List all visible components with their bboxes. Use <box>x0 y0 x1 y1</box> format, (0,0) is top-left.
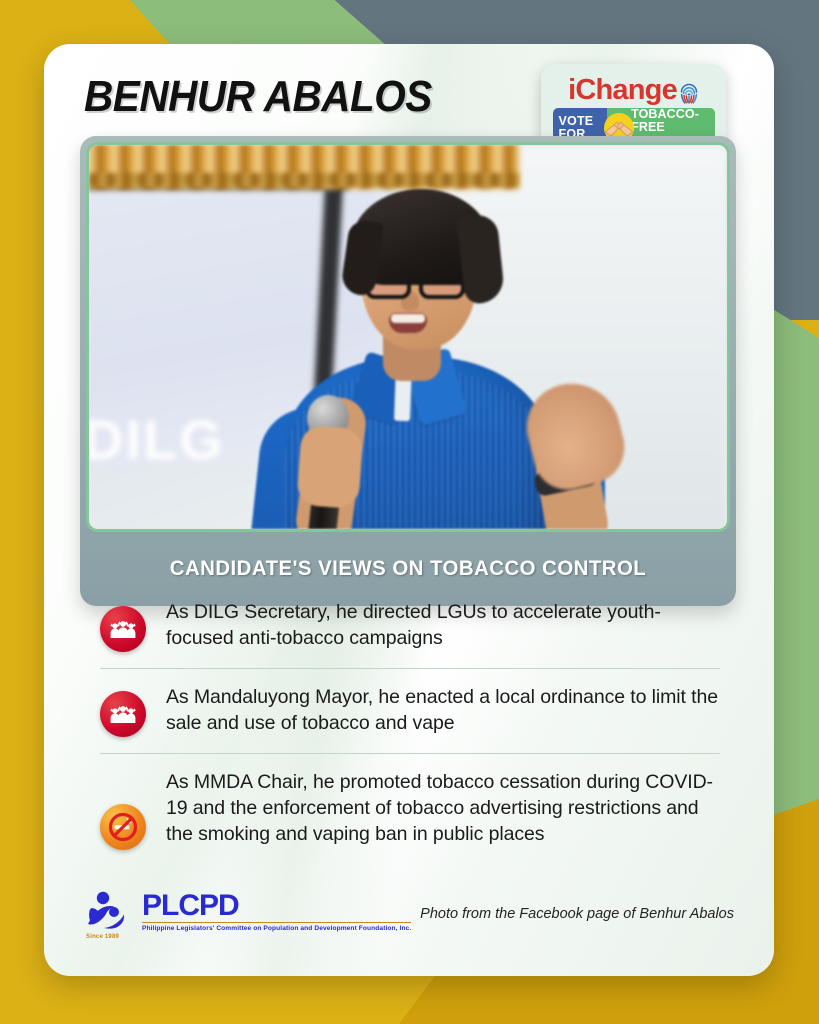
bullet-icon-slot <box>100 691 146 737</box>
list-item-text: As DILG Secretary, he directed LGUs to a… <box>166 600 720 652</box>
list-item: As DILG Secretary, he directed LGUs to a… <box>100 584 720 668</box>
list-item: As Mandaluyong Mayor, he enacted a local… <box>100 668 720 753</box>
list-item-text: As MMDA Chair, he promoted tobacco cessa… <box>166 770 720 848</box>
ichange-wordmark: iChange <box>568 76 677 105</box>
candidate-photo: DILG <box>86 142 730 532</box>
photo-mouth <box>389 313 427 333</box>
photo-panel: DILG <box>80 136 736 606</box>
list-item: As MMDA Chair, he promoted tobacco cessa… <box>100 753 720 866</box>
badge-tobacco-free-label: TOBACCO-FREE <box>631 108 714 135</box>
people-community-icon <box>100 691 146 737</box>
plcpd-logo: Since 1989 PLCPD Philippine Legislators'… <box>84 890 411 938</box>
views-list: As DILG Secretary, he directed LGUs to a… <box>100 584 720 866</box>
plcpd-full-name: Philippine Legislators' Committee on Pop… <box>142 925 411 934</box>
ichange-wordmark-row: iChange <box>568 76 699 105</box>
photo-credit: Photo from the Facebook page of Benhur A… <box>420 906 734 922</box>
card-footer: Since 1989 PLCPD Philippine Legislators'… <box>44 884 774 954</box>
photo-content: DILG <box>89 145 727 529</box>
photo-backdrop-text: DILG <box>89 407 225 472</box>
bullet-icon-slot <box>100 804 146 850</box>
page-title: BENHUR ABALOS <box>84 72 432 122</box>
photo-teeth <box>391 314 425 323</box>
plcpd-since-label: Since 1989 <box>86 934 119 940</box>
photo-bamboo-decor-2 <box>89 173 519 187</box>
plcpd-wordmark: PLCPD Philippine Legislators' Committee … <box>142 890 411 934</box>
bullet-icon-slot <box>100 606 146 652</box>
list-item-text: As Mandaluyong Mayor, he enacted a local… <box>166 685 720 737</box>
no-smoking-glyph <box>107 811 139 843</box>
content-card: BENHUR ABALOS iChange <box>44 44 774 976</box>
fingerprint-icon <box>679 79 699 105</box>
poster-canvas: BENHUR ABALOS iChange <box>0 0 819 1024</box>
photo-hand-holding-mic <box>296 425 363 509</box>
people-community-icon <box>100 606 146 652</box>
plcpd-figures-icon: Since 1989 <box>84 890 134 938</box>
no-smoking-icon <box>100 804 146 850</box>
people-community-glyph <box>109 619 137 639</box>
plcpd-figures-glyph <box>84 890 134 932</box>
people-community-glyph <box>109 704 137 724</box>
plcpd-acronym: PLCPD <box>142 892 411 921</box>
